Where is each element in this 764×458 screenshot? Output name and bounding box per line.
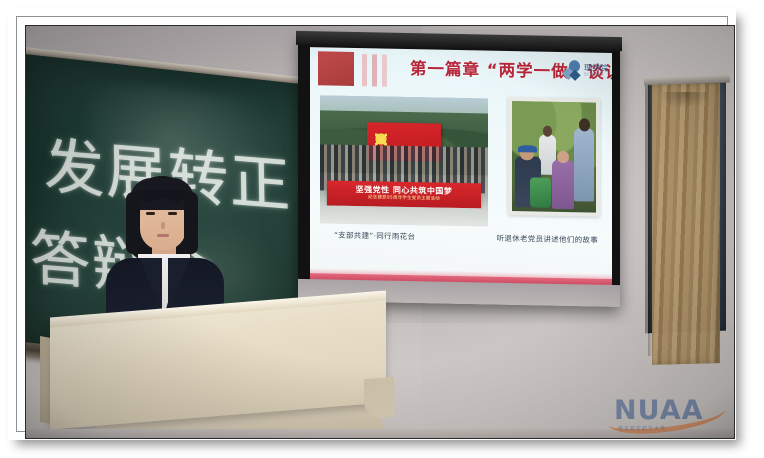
slide-logo-secondary: SCIENCE (584, 72, 608, 76)
elders-photo-student-standing (574, 129, 594, 202)
curtain-tieback (658, 92, 712, 108)
slide-accent-bar-1 (362, 54, 367, 86)
classroom-photograph: 发展转正 答辩会 (25, 25, 735, 439)
lectern-right-notch (364, 377, 394, 419)
window-curtain (652, 83, 720, 365)
photo-frame: 发展转正 答辩会 (8, 8, 736, 440)
curtain-shadow-edge (648, 84, 652, 356)
elders-photo-elder-woman (552, 160, 574, 209)
elders-photo-green-bag (530, 177, 550, 207)
wooden-lectern (40, 292, 400, 438)
presenter-eye-left (146, 212, 155, 215)
slide-accent-block (318, 51, 354, 86)
presenter-nose (161, 222, 165, 229)
presentation-slide: 第一篇章 “两学一做” 谈认识 理学院 SCIENCE (310, 47, 612, 287)
presenter-hair-left (126, 192, 140, 254)
group-photo-banner: 坚强党性 同心共筑中国梦 纪念建党95周年学生党员主题活动 (327, 180, 482, 209)
slide-photo-elders (508, 97, 600, 217)
slide-photo-group: 坚强党性 同心共筑中国梦 纪念建党95周年学生党员主题活动 (320, 95, 488, 226)
slide-caption-right: 听退休老党员讲述他们的故事 (497, 233, 598, 246)
elders-photo-inner (512, 101, 596, 213)
institute-logo-icon (564, 60, 581, 80)
slide-logo: 理学院 SCIENCE (564, 60, 608, 81)
banner-line-2: 纪念建党95周年学生党员主题活动 (368, 196, 440, 202)
slide-accent-bar-3 (382, 55, 387, 87)
presenter-eye-right (168, 212, 177, 215)
slide-caption-left: “支部共建”·同行雨花台 (334, 230, 415, 243)
presenter-mouth (157, 234, 169, 237)
group-photo-ground (320, 205, 488, 226)
slide-accent-bar-2 (372, 54, 377, 86)
presenter-hair-right (184, 192, 198, 254)
wall-skirting (26, 429, 734, 438)
scene: 发展转正 答辩会 (26, 26, 734, 438)
projection-screen: 第一篇章 “两学一做” 谈认识 理学院 SCIENCE (298, 33, 620, 307)
slide-logo-text: 理学院 SCIENCE (584, 64, 608, 76)
